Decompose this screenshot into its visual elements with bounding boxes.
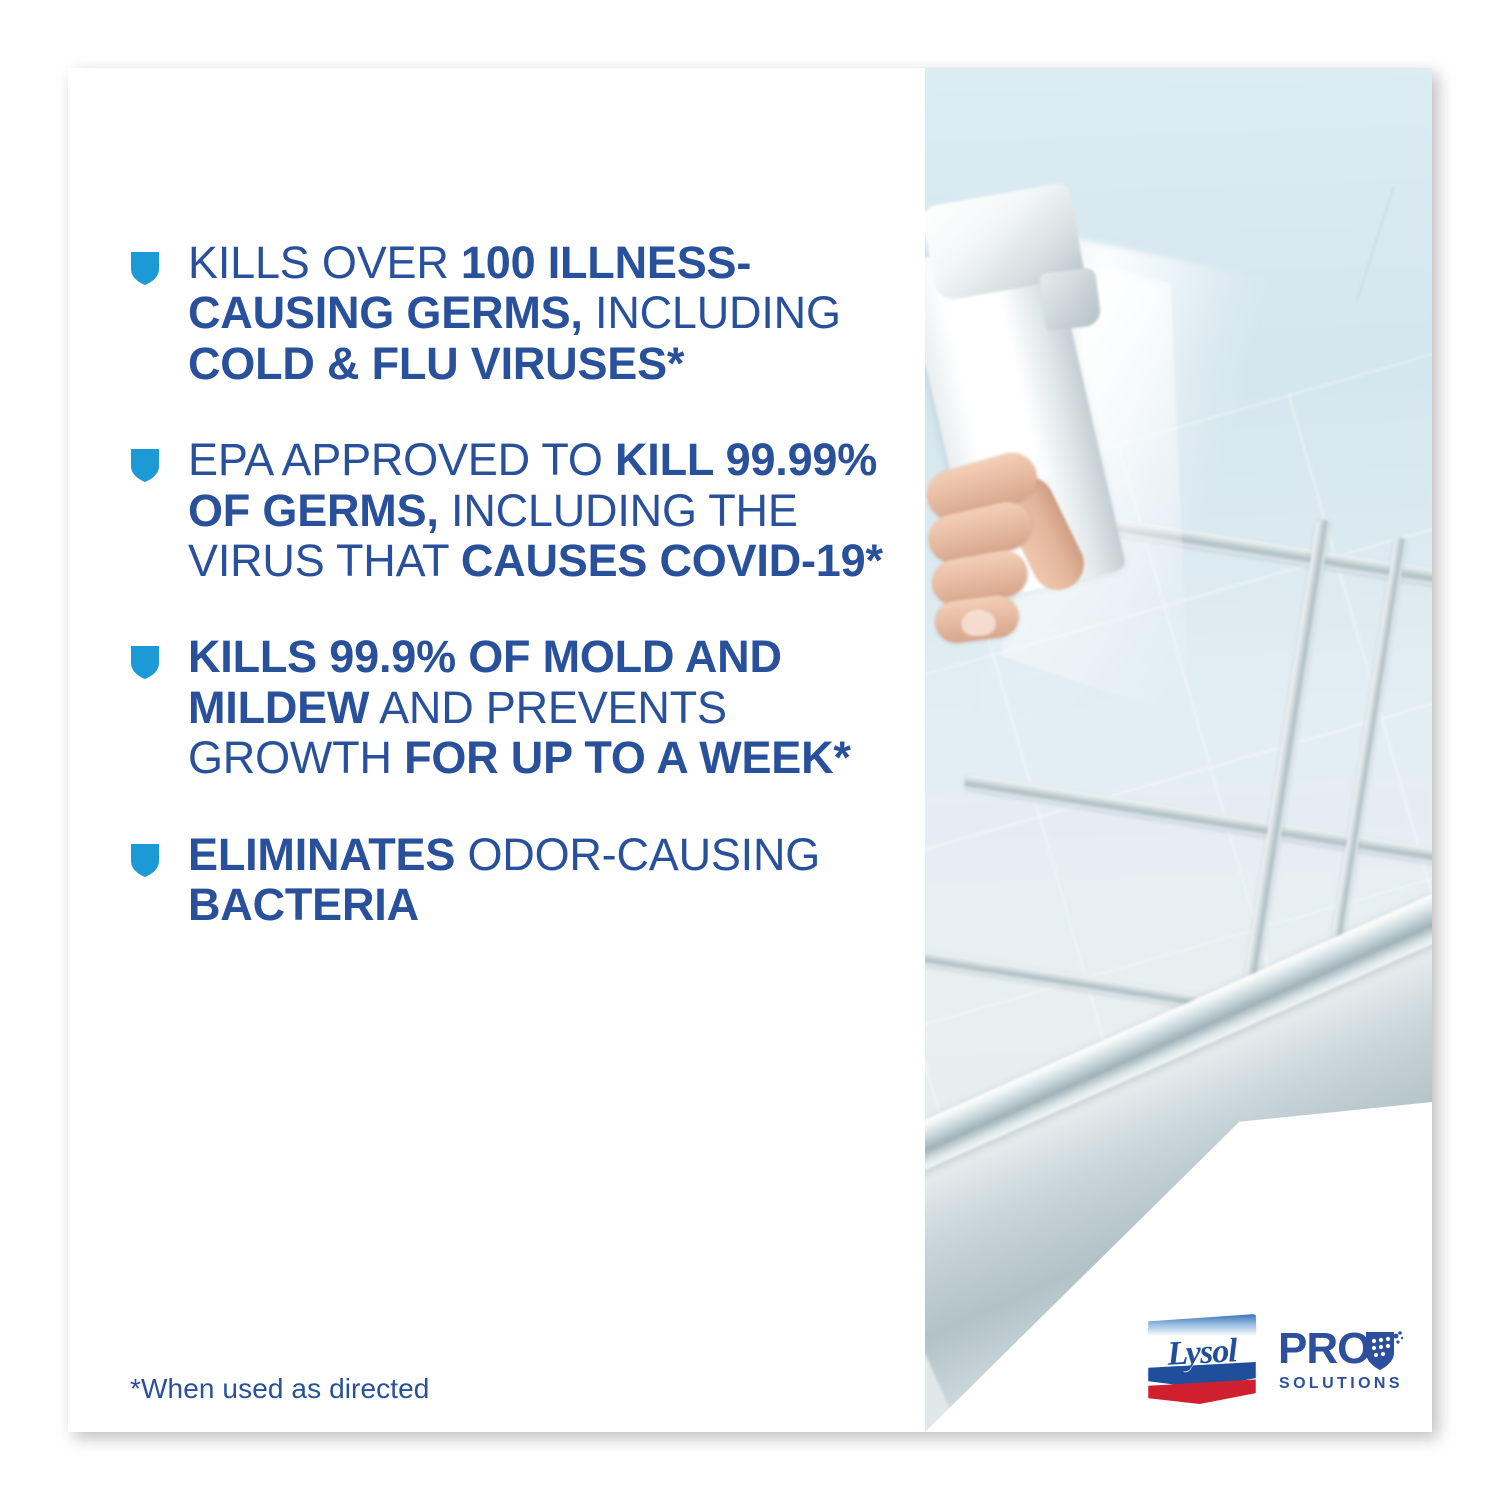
screenshot-stage: KILLS OVER 100 ILLNESS-CAUSING GERMS, IN… <box>0 0 1500 1500</box>
shield-icon <box>130 447 160 483</box>
claim-item-2: EPA APPROVED TO KILL 99.99% OF GERMS, IN… <box>120 435 920 586</box>
shield-dots-icon <box>1364 1329 1404 1373</box>
claim-item-4: ELIMINATES ODOR-CAUSING BACTERIA <box>120 830 920 931</box>
claim-text-4: ELIMINATES ODOR-CAUSING BACTERIA <box>188 830 920 931</box>
product-photo: Lysol PRO <box>925 68 1432 1432</box>
shield-icon <box>130 842 160 878</box>
claim-text-3: KILLS 99.9% OF MOLD AND MILDEW AND PREVE… <box>188 632 920 783</box>
claim-text-1: KILLS OVER 100 ILLNESS-CAUSING GERMS, IN… <box>188 238 920 389</box>
brand-logo-row: Lysol PRO <box>1146 1314 1410 1406</box>
claim-text-2: EPA APPROVED TO KILL 99.99% OF GERMS, IN… <box>188 435 920 586</box>
claims-list: KILLS OVER 100 ILLNESS-CAUSING GERMS, IN… <box>120 238 920 930</box>
footnote-text: *When used as directed <box>130 1373 429 1405</box>
pro-solutions-subtext: SOLUTIONS <box>1279 1375 1403 1393</box>
product-feature-card: KILLS OVER 100 ILLNESS-CAUSING GERMS, IN… <box>68 68 1432 1432</box>
fingernail <box>961 609 996 636</box>
claim-item-3: KILLS 99.9% OF MOLD AND MILDEW AND PREVE… <box>120 632 920 783</box>
lysol-wordmark: Lysol <box>1145 1331 1259 1375</box>
shield-icon <box>130 250 160 286</box>
pro-wordmark: PRO <box>1278 1327 1370 1371</box>
claim-item-1: KILLS OVER 100 ILLNESS-CAUSING GERMS, IN… <box>120 238 920 389</box>
lysol-logo: Lysol <box>1146 1314 1258 1406</box>
shield-icon <box>130 644 160 680</box>
pro-solutions-logo: PRO <box>1278 1321 1410 1399</box>
bottle-nozzle <box>1039 267 1102 331</box>
